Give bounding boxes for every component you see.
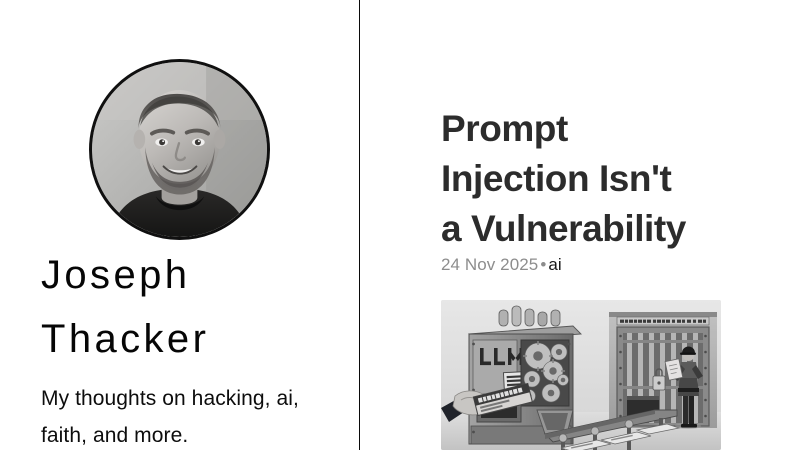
site-title-line-2: Thacker [41, 317, 209, 361]
blog-homepage: Joseph Thacker My thoughts on hacking, a… [0, 0, 800, 450]
portrait-photo-icon [92, 62, 267, 237]
site-title-line-1: Joseph [41, 253, 190, 297]
avatar-circle[interactable] [89, 59, 270, 240]
post-thumbnail[interactable] [441, 300, 721, 450]
post-list: Prompt Injection Isn't a Vulnerability 2… [361, 0, 800, 450]
post-title-line-2: Injection Isn't [441, 158, 671, 199]
post-title-line-1: Prompt [441, 108, 568, 149]
post-meta: 24 Nov 2025•ai [441, 254, 562, 276]
avatar[interactable] [89, 59, 270, 240]
meta-separator: • [538, 255, 548, 274]
site-sidebar: Joseph Thacker My thoughts on hacking, a… [0, 0, 359, 450]
llm-machine-illustration-icon [441, 300, 721, 450]
site-tagline: My thoughts on hacking, ai, faith, and m… [41, 380, 341, 454]
post-date: 24 Nov 2025 [441, 255, 538, 274]
post-title-line-3: a Vulnerability [441, 208, 686, 249]
site-title[interactable]: Joseph Thacker [41, 243, 341, 371]
post-tag-link[interactable]: ai [548, 255, 561, 274]
post-title-link[interactable]: Prompt Injection Isn't a Vulnerability [441, 104, 731, 254]
